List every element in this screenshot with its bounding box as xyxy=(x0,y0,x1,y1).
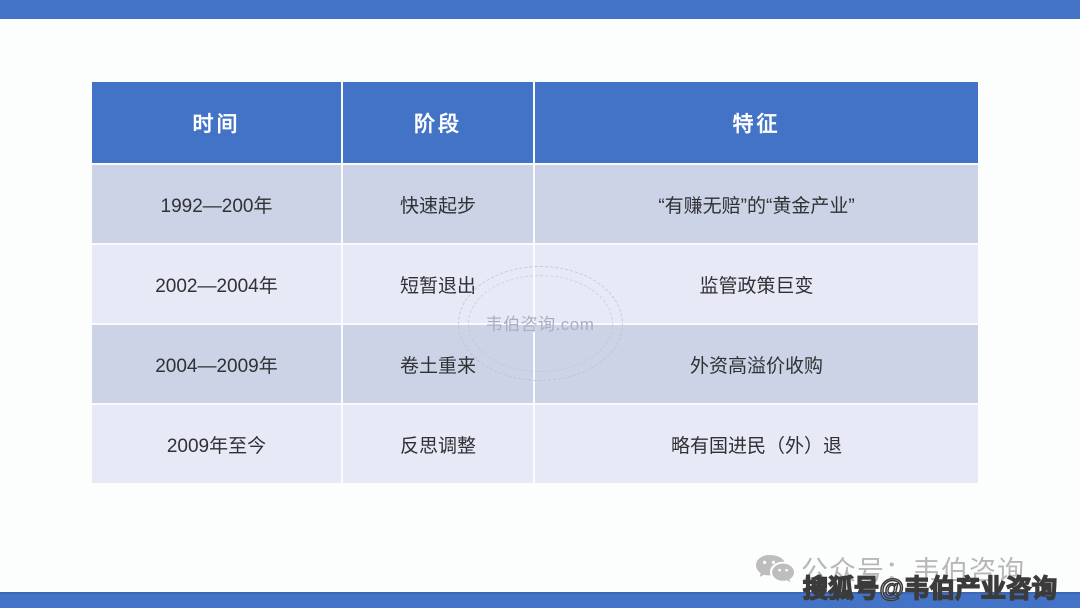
cell-stage: 快速起步 xyxy=(343,163,535,243)
table-body: 1992—200年 快速起步 “有赚无赔”的“黄金产业” 2002—2004年 … xyxy=(92,163,978,483)
top-accent-band xyxy=(0,0,1080,21)
cell-feature: 外资高溢价收购 xyxy=(535,323,978,403)
column-header-feature: 特征 xyxy=(535,82,978,163)
column-header-time: 时间 xyxy=(92,82,343,163)
cell-stage: 反思调整 xyxy=(343,403,535,483)
table-header: 时间 阶段 特征 xyxy=(92,82,978,163)
cell-time: 1992—200年 xyxy=(92,163,343,243)
cell-time: 2002—2004年 xyxy=(92,243,343,323)
cell-time: 2004—2009年 xyxy=(92,323,343,403)
table-header-row: 时间 阶段 特征 xyxy=(92,82,978,163)
cell-stage: 短暂退出 xyxy=(343,243,535,323)
phases-table-container: 时间 阶段 特征 1992—200年 快速起步 “有赚无赔”的“黄金产业” 20… xyxy=(92,82,978,483)
cell-time: 2009年至今 xyxy=(92,403,343,483)
slide-canvas: 韦伯咨询.com 时间 阶段 特征 1992—200年 快速起步 “有赚无赔”的… xyxy=(0,19,1080,594)
brand-watermark: 公众号：韦伯咨询 搜狐号@韦伯产业咨询 xyxy=(755,543,1075,593)
cell-stage: 卷土重来 xyxy=(343,323,535,403)
cell-feature: 监管政策巨变 xyxy=(535,243,978,323)
cell-feature: 略有国进民（外）退 xyxy=(535,403,978,483)
table-row: 2009年至今 反思调整 略有国进民（外）退 xyxy=(92,403,978,483)
table-row: 2002—2004年 短暂退出 监管政策巨变 xyxy=(92,243,978,323)
table-row: 2004—2009年 卷土重来 外资高溢价收购 xyxy=(92,323,978,403)
cell-feature: “有赚无赔”的“黄金产业” xyxy=(535,163,978,243)
wechat-icon xyxy=(755,553,795,583)
phases-table: 时间 阶段 特征 1992—200年 快速起步 “有赚无赔”的“黄金产业” 20… xyxy=(92,82,978,483)
brand-overlay-label: 搜狐号@韦伯产业咨询 xyxy=(803,569,1057,605)
column-header-stage: 阶段 xyxy=(343,82,535,163)
table-row: 1992—200年 快速起步 “有赚无赔”的“黄金产业” xyxy=(92,163,978,243)
